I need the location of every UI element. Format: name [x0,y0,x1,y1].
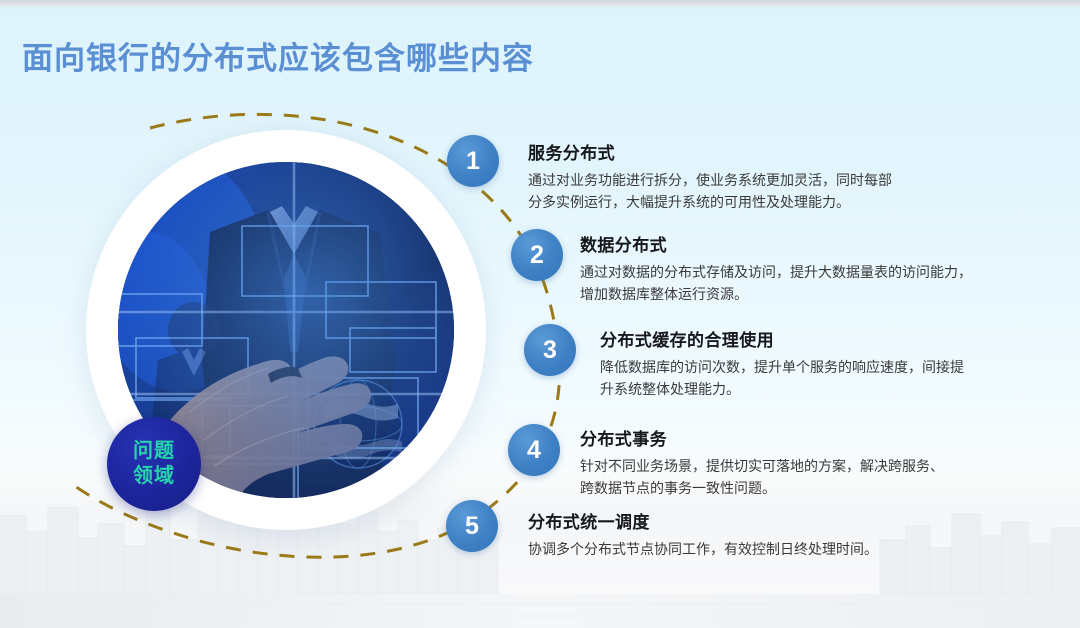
problem-domain-badge[interactable]: 问题 领域 [107,417,201,511]
item-number-badge[interactable]: 4 [508,424,560,476]
item-number-badge[interactable]: 1 [447,135,499,187]
window-top-strip [0,0,1080,7]
badge-line-2: 领域 [133,464,175,489]
item-body-line: 升系统整体处理能力。 [600,378,964,400]
item-heading: 数据分布式 [580,231,972,256]
item-text-block: 分布式事务 针对不同业务场景，提供切实可落地的方案，解决跨服务、 跨数据节点的事… [580,425,944,499]
item-body: 通过对业务功能进行拆分，使业务系统更加灵活，同时每部 分多实例运行，大幅提升系统… [528,169,892,213]
item-body-line: 通过对业务功能进行拆分，使业务系统更加灵活，同时每部 [528,169,892,191]
item-heading: 服务分布式 [528,139,892,164]
item-body-line: 协调多个分布式节点协同工作，有效控制日终处理时间。 [528,538,878,560]
item-text-block: 数据分布式 通过对数据的分布式存储及访问，提升大数据量表的访问能力， 增加数据库… [580,231,972,305]
item-number-badge[interactable]: 2 [511,229,563,281]
page-title: 面向银行的分布式应该包含哪些内容 [22,33,534,78]
item-text-block: 服务分布式 通过对业务功能进行拆分，使业务系统更加灵活，同时每部 分多实例运行，… [528,139,892,213]
item-body-line: 增加数据库整体运行资源。 [580,283,972,305]
item-body: 通过对数据的分布式存储及访问，提升大数据量表的访问能力， 增加数据库整体运行资源… [580,261,972,305]
item-number-badge[interactable]: 3 [524,324,576,376]
item-text-block: 分布式统一调度 协调多个分布式节点协同工作，有效控制日终处理时间。 [528,508,878,560]
item-body: 协调多个分布式节点协同工作，有效控制日终处理时间。 [528,538,878,560]
item-number-badge[interactable]: 5 [446,500,498,552]
item-heading: 分布式事务 [580,425,944,450]
item-heading: 分布式统一调度 [528,508,878,533]
item-body-line: 针对不同业务场景，提供切实可落地的方案，解决跨服务、 [580,455,944,477]
item-heading: 分布式缓存的合理使用 [600,326,964,351]
slide-canvas: 问题 领域 面向银行的分布式应该包含哪些内容 1 服务分布式 通过对业务功能进行… [0,0,1080,628]
item-body-line: 跨数据节点的事务一致性问题。 [580,477,944,499]
item-body-line: 通过对数据的分布式存储及访问，提升大数据量表的访问能力， [580,261,972,283]
item-body-line: 分多实例运行，大幅提升系统的可用性及处理能力。 [528,191,892,213]
item-body: 降低数据库的访问次数，提升单个服务的响应速度，间接提 升系统整体处理能力。 [600,356,964,400]
item-body-line: 降低数据库的访问次数，提升单个服务的响应速度，间接提 [600,356,964,378]
badge-line-1: 问题 [133,439,175,464]
item-body: 针对不同业务场景，提供切实可落地的方案，解决跨服务、 跨数据节点的事务一致性问题… [580,455,944,499]
item-text-block: 分布式缓存的合理使用 降低数据库的访问次数，提升单个服务的响应速度，间接提 升系… [600,326,964,400]
